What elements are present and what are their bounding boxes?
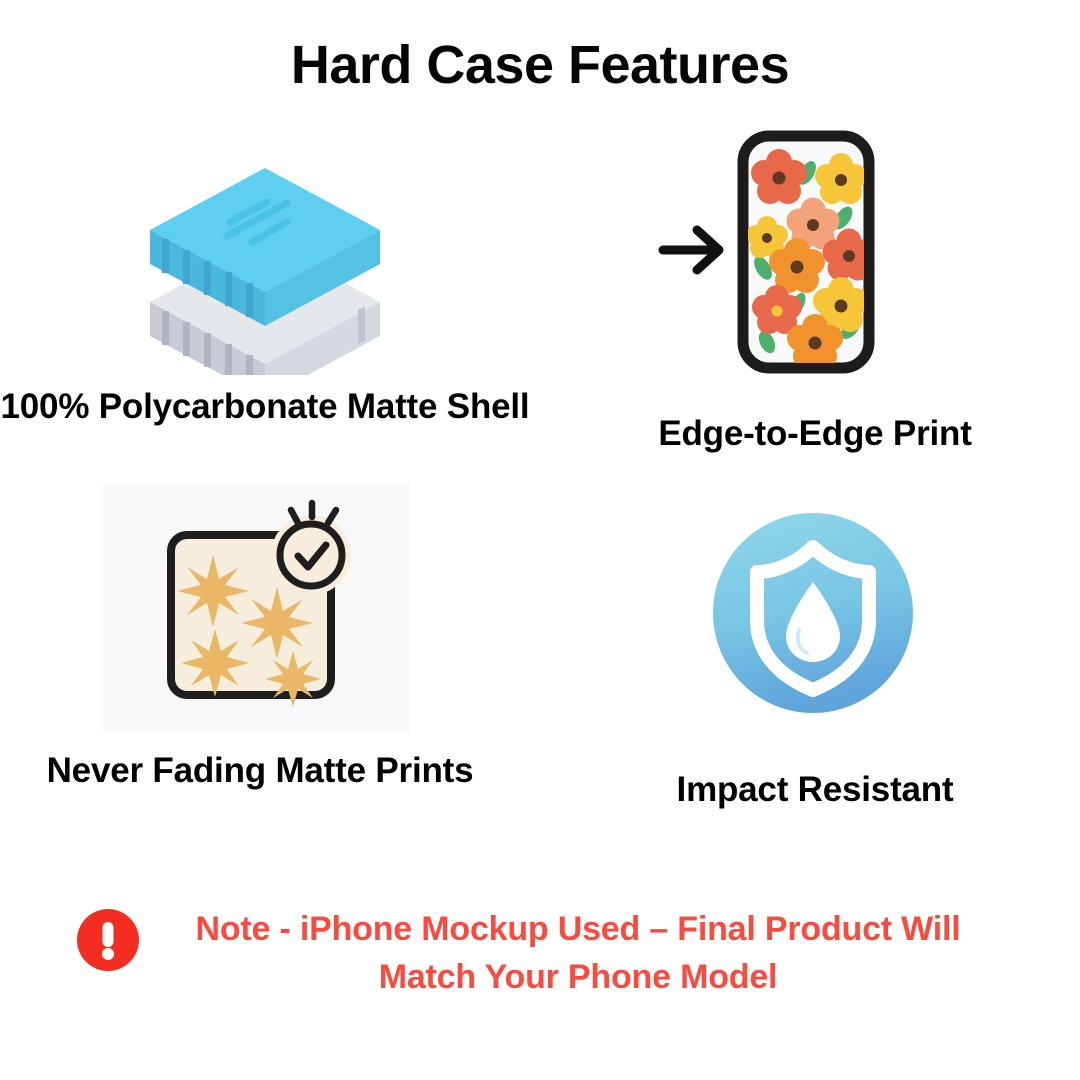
feature-impact-resistant: Impact Resistant — [550, 510, 1080, 813]
feature-label-impact-resistant: Impact Resistant — [550, 768, 1080, 813]
feature-edge-to-edge: Edge-to-Edge Print — [550, 128, 1080, 457]
shield-droplet-icon — [710, 510, 920, 725]
floral-phone-case-icon-wrap — [550, 128, 1080, 388]
sparkle-card-check-icon — [135, 483, 385, 733]
feature-label-edge-to-edge: Edge-to-Edge Print — [550, 412, 1080, 457]
alert-exclamation-icon — [77, 909, 139, 971]
feature-polycarbonate: 100% Polycarbonate Matte Shell — [0, 160, 530, 430]
layered-slabs-icon — [115, 160, 415, 375]
infographic-page: Hard Case Features — [0, 0, 1080, 1080]
note-banner: Note - iPhone Mockup Used – Final Produc… — [0, 905, 1080, 1002]
note-text: Note - iPhone Mockup Used – Final Produc… — [153, 905, 1003, 1002]
sparkle-card-check-icon-wrap — [0, 483, 520, 733]
feature-never-fading: Never Fading Matte Prints — [0, 483, 520, 794]
feature-label-polycarbonate: 100% Polycarbonate Matte Shell — [0, 385, 530, 430]
page-title: Hard Case Features — [0, 34, 1080, 96]
shield-droplet-icon-wrap — [550, 510, 1080, 740]
feature-label-never-fading: Never Fading Matte Prints — [0, 749, 520, 794]
arrow-right-icon — [663, 230, 719, 270]
floral-phone-case-icon — [655, 128, 975, 378]
layered-slabs-icon-wrap — [0, 160, 530, 375]
